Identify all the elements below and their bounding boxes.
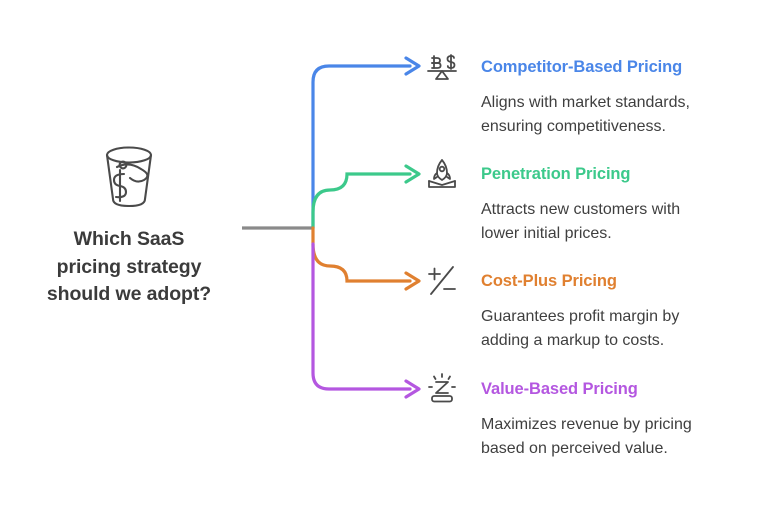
branch-title: Value-Based Pricing bbox=[481, 381, 638, 398]
arrowhead-competitor-based-pricing bbox=[406, 58, 419, 74]
money-bucket-icon bbox=[90, 138, 168, 216]
branch-title: Penetration Pricing bbox=[481, 166, 630, 183]
mindmap-canvas: Which SaaSpricing strategyshould we adop… bbox=[0, 0, 780, 510]
branch-value-based-pricing[interactable]: Value-Based Pricing Maximizes revenue by… bbox=[425, 372, 765, 460]
branch-competitor-based-pricing[interactable]: Competitor-Based Pricing Aligns with mar… bbox=[425, 50, 765, 138]
connector-competitor-based-pricing bbox=[313, 66, 410, 228]
plus-minus-icon bbox=[425, 264, 459, 298]
arrowhead-cost-plus-pricing bbox=[406, 273, 419, 289]
connector-value-based-pricing bbox=[313, 244, 410, 389]
arrowhead-penetration-pricing bbox=[406, 166, 419, 182]
branch-penetration-pricing[interactable]: Penetration Pricing Attracts new custome… bbox=[425, 157, 765, 245]
branch-description: Guarantees profit margin byadding a mark… bbox=[481, 305, 753, 352]
branch-header: Penetration Pricing bbox=[425, 157, 765, 191]
connector-cost-plus-pricing bbox=[313, 228, 410, 281]
branch-description: Attracts new customers withlower initial… bbox=[481, 198, 753, 245]
balance-scale-icon bbox=[425, 50, 459, 84]
branch-title: Competitor-Based Pricing bbox=[481, 59, 682, 76]
branch-description: Aligns with market standards,ensuring co… bbox=[481, 91, 753, 138]
branch-header: Competitor-Based Pricing bbox=[425, 50, 765, 84]
branch-header: Cost-Plus Pricing bbox=[425, 264, 765, 298]
arrowhead-value-based-pricing bbox=[406, 381, 419, 397]
branch-cost-plus-pricing[interactable]: Cost-Plus Pricing Guarantees profit marg… bbox=[425, 264, 765, 352]
connector-penetration-pricing bbox=[313, 174, 410, 228]
branch-description: Maximizes revenue by pricingbased on per… bbox=[481, 413, 753, 460]
lamp-idea-icon bbox=[425, 372, 459, 406]
branch-title: Cost-Plus Pricing bbox=[481, 273, 617, 290]
rocket-launch-icon bbox=[425, 157, 459, 191]
root-node: Which SaaSpricing strategyshould we adop… bbox=[18, 138, 240, 309]
branch-header: Value-Based Pricing bbox=[425, 372, 765, 406]
root-title: Which SaaSpricing strategyshould we adop… bbox=[47, 226, 211, 309]
